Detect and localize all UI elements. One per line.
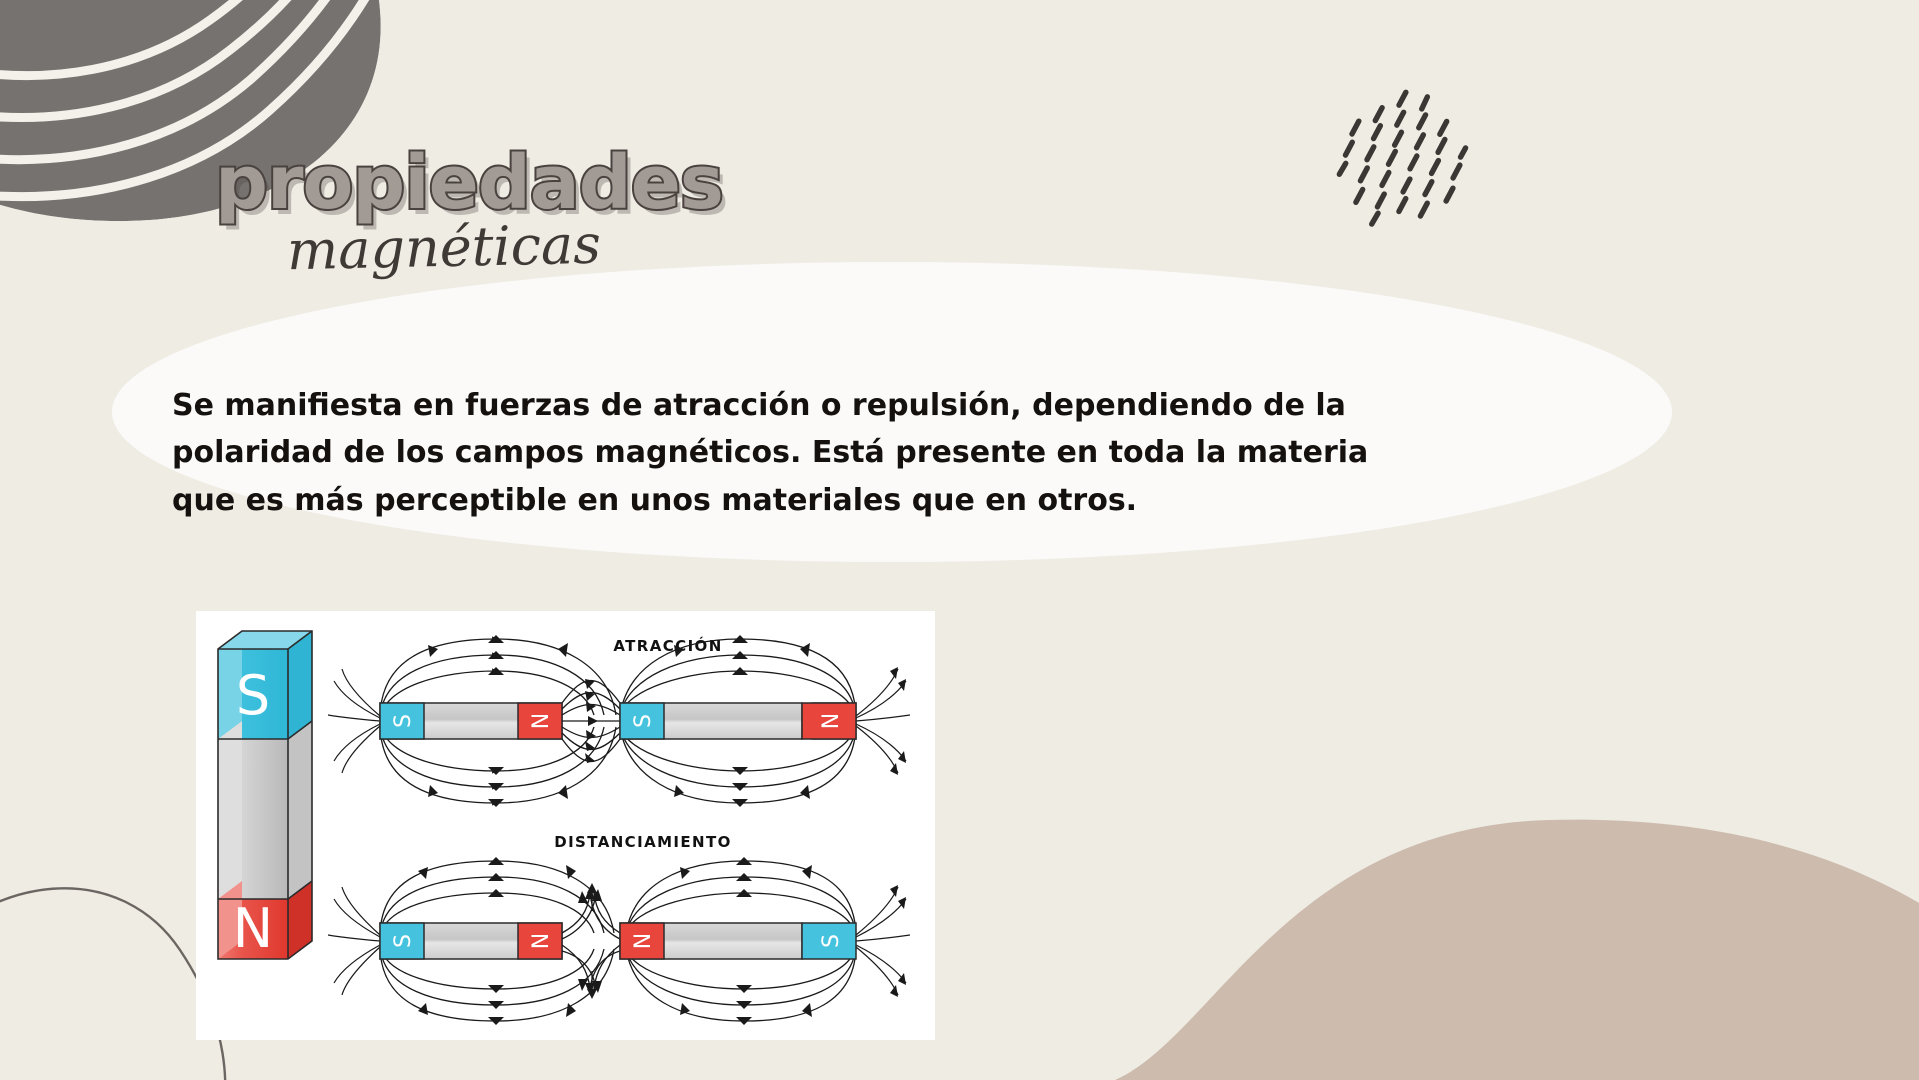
attraction-magnet-left: S N bbox=[380, 703, 562, 739]
separation-magnet-left: S N bbox=[380, 923, 562, 959]
paragraph-line-3: que es más perceptible en unos materiale… bbox=[172, 477, 1642, 524]
magnet-pole-n: N bbox=[631, 933, 656, 949]
magnet-pole-n: N bbox=[819, 713, 844, 729]
bottom-right-hill-decoration bbox=[1079, 758, 1919, 1080]
magnet-pole-n: N bbox=[529, 933, 554, 949]
magnet-pole-s: S bbox=[391, 714, 416, 728]
magnet-pole-n: N bbox=[529, 713, 554, 729]
paragraph-line-2: polaridad de los campos magnéticos. Está… bbox=[172, 429, 1642, 476]
magnet-pole-s: S bbox=[391, 934, 416, 948]
magnet-pole-s: S bbox=[819, 934, 844, 948]
dash-pattern-decoration bbox=[1322, 84, 1492, 234]
magnet-diagram-image: S N ATRACCIÓN bbox=[196, 611, 935, 1040]
magnet-pole-s: S bbox=[631, 714, 656, 728]
bar-magnet-3d: S N bbox=[218, 631, 312, 960]
attraction-magnet-right: S N bbox=[620, 703, 856, 739]
separation-label: DISTANCIAMIENTO bbox=[554, 833, 732, 851]
bar-magnet-south-label: S bbox=[236, 664, 270, 727]
body-paragraph: Se manifiesta en fuerzas de atracción o … bbox=[172, 382, 1642, 524]
separation-magnet-right: N S bbox=[620, 923, 856, 959]
bar-magnet-north-label: N bbox=[233, 897, 273, 960]
slide-canvas: propiedades magnéticas Se manifiesta en … bbox=[0, 0, 1919, 1080]
title-main-text: propiedades bbox=[215, 140, 723, 226]
magnet-diagram-svg: S N ATRACCIÓN bbox=[196, 611, 935, 1040]
paragraph-line-1: Se manifiesta en fuerzas de atracción o … bbox=[172, 382, 1642, 429]
page-title: propiedades magnéticas bbox=[215, 140, 1115, 290]
attraction-label: ATRACCIÓN bbox=[613, 636, 722, 655]
title-subtitle-script: magnéticas bbox=[286, 213, 601, 283]
